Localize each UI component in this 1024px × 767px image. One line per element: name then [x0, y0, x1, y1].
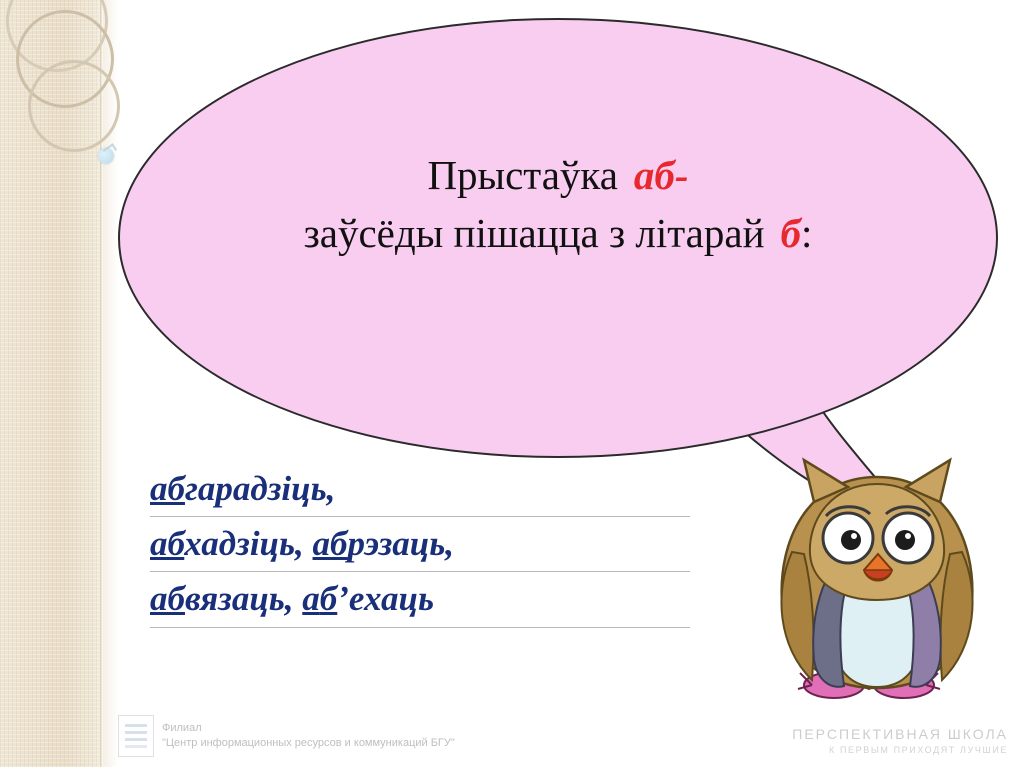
word3-rest: рэзаць, — [347, 524, 453, 563]
word5-prefix-a: а — [302, 579, 320, 618]
footer-left-text: Филиал "Центр информационных ресурсов и … — [162, 721, 455, 751]
bubble-line1-highlight: аб- — [634, 152, 689, 198]
word2-rest: хадзіць, — [184, 524, 312, 563]
word4-prefix-b: б — [168, 579, 185, 618]
example-word-list: абгарадзіць, абхадзіць, абрэзаць, абвяза… — [150, 462, 750, 628]
bubble-line-2: заўсёды пішацца з літарайб: — [118, 204, 998, 262]
owl-mascot-icon — [752, 442, 1002, 712]
footer-left-logo: Филиал "Центр информационных ресурсов и … — [118, 715, 455, 757]
word3-prefix-b: б — [330, 524, 347, 563]
word5-prefix-b: б — [320, 579, 337, 618]
bubble-line1-text: Прыстаўка — [427, 152, 617, 198]
example-word-line-1: абгарадзіць, — [150, 462, 750, 517]
example-word-line-3: абвязаць, аб’ехаць — [150, 572, 750, 627]
word4-rest: вязаць, — [185, 579, 302, 618]
line-rule — [150, 627, 690, 628]
bubble-line2-highlight: б — [781, 210, 801, 256]
word4-prefix-a: а — [150, 579, 168, 618]
word3-prefix-a: а — [313, 524, 331, 563]
footer-right-line2: К ПЕРВЫМ ПРИХОДЯТ ЛУЧШИЕ — [792, 745, 1008, 755]
footer-right-line1: ПЕРСПЕКТИВНАЯ ШКОЛА — [792, 726, 1008, 742]
word1-prefix-b: б — [168, 469, 185, 508]
bubble-line2-suffix: : — [801, 210, 812, 256]
word5-rest: ’ехаць — [337, 579, 434, 618]
bubble-line2-text: заўсёды пішацца з літарай — [304, 210, 765, 256]
bubble-line-1: Прыстаўкааб- — [118, 146, 998, 204]
document-icon — [118, 715, 154, 757]
footer-left-line1: Филиал — [162, 721, 455, 736]
word1-rest: гарадзіць, — [185, 469, 335, 508]
word1-prefix-a: а — [150, 469, 168, 508]
spiral-ring-icon — [28, 60, 120, 152]
speech-bubble-text: Прыстаўкааб- заўсёды пішацца з літарайб: — [118, 146, 998, 262]
footer-left-line2: "Центр информационных ресурсов и коммуни… — [162, 736, 455, 751]
word2-prefix-a: а — [150, 524, 168, 563]
footer-right-watermark: ПЕРСПЕКТИВНАЯ ШКОЛА К ПЕРВЫМ ПРИХОДЯТ ЛУ… — [792, 726, 1008, 755]
example-word-line-2: абхадзіць, абрэзаць, — [150, 517, 750, 572]
slide-canvas: Прыстаўкааб- заўсёды пішацца з літарайб:… — [0, 0, 1024, 767]
word2-prefix-b: б — [168, 524, 185, 563]
